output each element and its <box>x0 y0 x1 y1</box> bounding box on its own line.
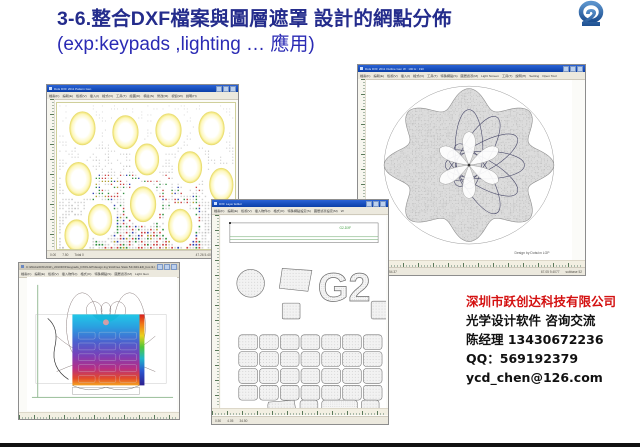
window-title: Dots DXF 2011 Pattern Gen <box>54 87 214 91</box>
menubar-dxf[interactable]: 檔案(F) 編輯(E) 檢視(V) 插入物件(I) 格式(O) 特殊網點設定(S… <box>212 207 388 215</box>
titlebar-heatmap[interactable]: C:\Works\DXF2011\_2010DXF\keypads_DXF\LG… <box>19 263 179 270</box>
vertical-ruler <box>212 215 220 408</box>
titlebar-dxf[interactable]: DXF Layer Editor <box>212 200 388 207</box>
window-dxf-keypad[interactable]: DXF Layer Editor 檔案(F) 編輯(E) 檢視(V) 插入物件(… <box>211 199 389 425</box>
window-illuminance-map[interactable]: C:\Works\DXF2011\_2010DXF\keypads_DXF\LG… <box>18 262 180 420</box>
menu-item[interactable]: 格式(O) <box>413 73 424 78</box>
dxf-logo-text: G2 <box>318 266 371 310</box>
status-value: 4.05 <box>227 419 233 423</box>
menubar-dot-pattern[interactable]: 檔案(F) 編輯(E) 檢視(V) 插入(I) 格式(O) 工具(T) 繪圖(D… <box>47 92 238 100</box>
status-value: 0.00 <box>50 253 56 257</box>
statusbar-dxf: 0.50 4.05 34.50 <box>212 416 388 424</box>
menu-item[interactable]: 說明(H) <box>515 73 526 78</box>
menu-item[interactable]: 圖層遮罩(M) <box>461 73 479 78</box>
minimize-button[interactable] <box>366 201 372 207</box>
menu-item[interactable]: 檢視(V) <box>387 73 398 78</box>
menu-item[interactable]: 插入物件(I) <box>62 271 78 276</box>
heatmap-canvas[interactable] <box>27 277 177 411</box>
horizontal-ruler <box>19 412 179 419</box>
menu-item[interactable]: W <box>341 209 344 213</box>
contact-company: 深圳市跃创达科技有限公司 <box>466 292 638 311</box>
status-value: 67.05 9.4077 <box>541 270 560 274</box>
menubar-rosette[interactable]: 檔案(F) 編輯(E) 檢視(V) 插入(I) 格式(O) 工具(T) 特殊網點… <box>358 72 585 80</box>
maximize-button[interactable] <box>373 201 379 207</box>
contact-block: 深圳市跃创达科技有限公司 光学设计软件 咨询交流 陈经理 13430672236… <box>466 292 638 387</box>
menu-item[interactable]: 圖層遮罩(M) <box>114 271 132 276</box>
menu-item[interactable]: 編輯(E) <box>62 93 73 98</box>
minimize-button[interactable] <box>157 264 163 270</box>
menu-item[interactable]: 插入(I) <box>401 73 410 78</box>
window-icon <box>21 265 24 268</box>
menu-item[interactable]: 修改(M) <box>157 93 168 98</box>
window-icon <box>360 67 363 70</box>
window-rosette-outline[interactable]: Dots DXF 2011 Outline Gen W : 190 H : 19… <box>357 64 586 276</box>
menu-item[interactable]: 繪圖(D) <box>130 93 141 98</box>
menu-item[interactable]: 特殊網點設定(S) <box>287 208 310 213</box>
menu-item[interactable]: 格式(O) <box>80 271 91 276</box>
titlebar-rosette[interactable]: Dots DXF 2011 Outline Gen W : 190 H : 19… <box>358 65 585 72</box>
window-controls[interactable] <box>157 264 177 270</box>
menu-item[interactable]: Light Gen <box>135 272 149 276</box>
minimize-button[interactable] <box>216 86 222 92</box>
menu-item[interactable]: 編輯(E) <box>34 271 45 276</box>
menu-item[interactable]: 視窗(W) <box>171 93 183 98</box>
menu-item[interactable]: 圖層遮罩設定(M) <box>314 208 338 213</box>
maximize-button[interactable] <box>164 264 170 270</box>
menu-item[interactable]: 檔案(F) <box>49 93 59 98</box>
window-icon <box>214 202 217 205</box>
menu-item[interactable]: 插入物件(I) <box>255 208 271 213</box>
menu-item[interactable]: 說明(H) <box>186 93 197 98</box>
statusbar-dot-pattern: 0.00 7.50 Total 0 47.26 5.4077 subbase 0 <box>47 250 238 258</box>
menu-item[interactable]: 檢視(V) <box>76 93 87 98</box>
maximize-button[interactable] <box>223 86 229 92</box>
rosette-canvas[interactable]: Design by Dots/cn LGP <box>366 80 572 265</box>
page-title: 3-6.整合DXF檔案與圖層遮罩 設計的網點分佈 (exp:keypads ,l… <box>57 8 527 56</box>
dot-pattern-canvas[interactable] <box>56 102 236 250</box>
layer-label: G2-DXF <box>340 226 352 230</box>
close-button[interactable] <box>380 201 386 207</box>
menu-item[interactable]: Light Screen <box>481 74 499 78</box>
menu-item[interactable]: 編輯(E) <box>373 73 384 78</box>
titlebar-dot-pattern[interactable]: Dots DXF 2011 Pattern Gen <box>47 85 238 92</box>
horizontal-ruler <box>358 260 585 267</box>
horizontal-ruler <box>212 408 388 415</box>
window-controls[interactable] <box>366 201 386 207</box>
menu-item[interactable]: 檢視(V) <box>48 271 59 276</box>
status-value: subbase 52 <box>566 270 582 274</box>
menu-item[interactable]: 標註(N) <box>143 93 154 98</box>
close-button[interactable] <box>577 66 583 72</box>
contact-service: 光学设计软件 咨询交流 <box>466 311 638 330</box>
close-button[interactable] <box>171 264 177 270</box>
window-icon <box>49 87 52 90</box>
menu-item[interactable]: 格式(O) <box>273 208 284 213</box>
menu-item[interactable]: Open Tool <box>542 74 556 78</box>
menu-item[interactable]: 插入(I) <box>90 93 99 98</box>
vertical-ruler <box>47 99 55 250</box>
window-title: C:\Works\DXF2011\_2010DXF\keypads_DXF\LG… <box>26 265 155 269</box>
menu-item[interactable]: 工具(T) <box>502 73 512 78</box>
title-line-secondary: (exp:keypads ,lighting … 應用) <box>57 33 527 56</box>
minimize-button[interactable] <box>563 66 569 72</box>
menu-item[interactable]: 檔案(F) <box>360 73 370 78</box>
window-controls[interactable] <box>216 86 236 92</box>
slide-bottom-rule <box>0 443 640 447</box>
close-button[interactable] <box>230 86 236 92</box>
window-controls[interactable] <box>563 66 583 72</box>
status-value: 7.50 <box>62 253 68 257</box>
status-value: Total 0 <box>74 253 83 257</box>
contact-qq: QQ：569192379 <box>466 349 638 368</box>
menu-item[interactable]: 格式(O) <box>102 93 113 98</box>
menu-item[interactable]: 編輯(E) <box>227 208 238 213</box>
menu-item[interactable]: 檢視(V) <box>241 208 252 213</box>
contact-email: ycd_chen@126.com <box>466 368 638 387</box>
menu-item[interactable]: 工具(T) <box>427 73 437 78</box>
window-title: DXF Layer Editor <box>219 202 364 206</box>
menu-item[interactable]: Setting <box>529 74 539 78</box>
menu-item[interactable]: 檔案(F) <box>21 271 31 276</box>
g2-logo-icon <box>573 0 609 30</box>
statusbar-rosette: 47.000 5.51 54.37 67.05 9.4077 subbase 5… <box>358 267 585 275</box>
dxf-canvas[interactable]: G2-DXF G2 <box>221 216 386 415</box>
contact-person: 陈经理 13430672236 <box>466 330 638 349</box>
status-value: 54.37 <box>389 270 397 274</box>
plot-caption: Design by Dots/cn LGP <box>515 251 551 255</box>
slide-root: 3-6.整合DXF檔案與圖層遮罩 設計的網點分佈 (exp:keypads ,l… <box>0 0 640 447</box>
menu-item[interactable]: 工具(T) <box>116 93 126 98</box>
menu-item[interactable]: 特殊網點(S) <box>441 73 458 78</box>
window-title: Dots DXF 2011 Outline Gen W : 190 H : 19… <box>365 67 561 71</box>
maximize-button[interactable] <box>570 66 576 72</box>
status-value: 34.50 <box>239 419 247 423</box>
menu-item[interactable]: 特殊網點(S) <box>94 271 111 276</box>
status-value: 0.50 <box>215 419 221 423</box>
title-line-primary: 3-6.整合DXF檔案與圖層遮罩 設計的網點分佈 <box>57 8 527 31</box>
menu-item[interactable]: 檔案(F) <box>214 208 224 213</box>
